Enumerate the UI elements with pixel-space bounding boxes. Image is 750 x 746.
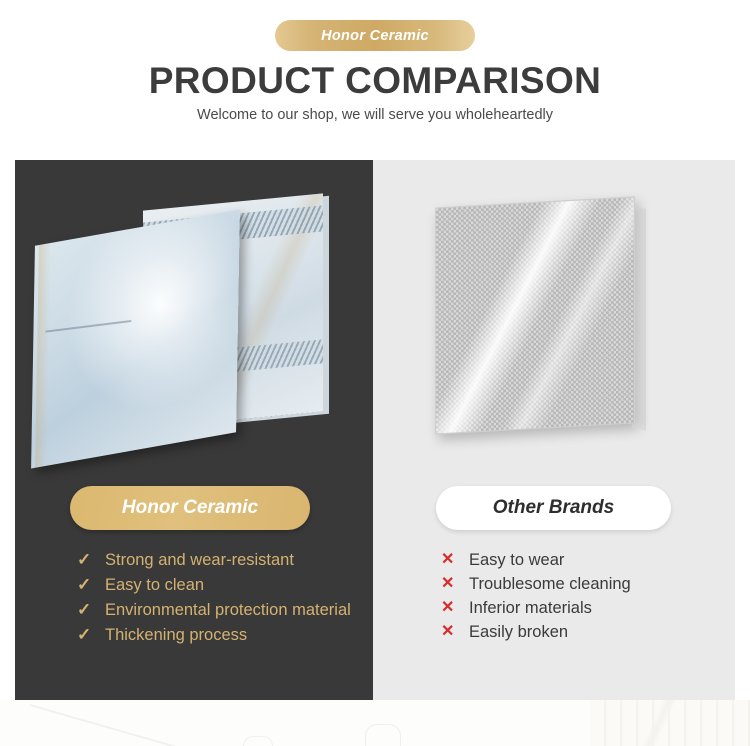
- list-item-label: Easily broken: [469, 620, 568, 644]
- check-icon: ✓: [77, 573, 105, 597]
- list-item: ✓ Easy to clean: [77, 573, 362, 597]
- list-item-label: Thickening process: [105, 623, 247, 647]
- tile-front-slab: [31, 210, 240, 469]
- watermark-texture-block: [590, 700, 750, 746]
- page-header: Honor Ceramic PRODUCT COMPARISON Welcome…: [0, 0, 750, 160]
- list-item-label: Troublesome cleaning: [469, 572, 631, 596]
- other-brands-badge-label: Other Brands: [493, 497, 614, 519]
- list-item-label: Easy to wear: [469, 548, 564, 572]
- cross-icon: ✕: [441, 596, 469, 620]
- check-icon: ✓: [77, 598, 105, 622]
- other-brands-badge: Other Brands: [436, 486, 671, 530]
- cross-icon: ✕: [441, 548, 469, 572]
- list-item: ✕ Troublesome cleaning: [441, 572, 731, 596]
- list-item: ✓ Thickening process: [77, 623, 362, 647]
- page-title: PRODUCT COMPARISON: [0, 60, 750, 102]
- page-subtitle: Welcome to our shop, we will serve you w…: [0, 107, 750, 123]
- honor-ceramic-product-image: [15, 184, 373, 464]
- list-item: ✕ Easy to wear: [441, 548, 731, 572]
- other-brands-product-image: [373, 184, 735, 464]
- honor-ceramic-feature-list: ✓ Strong and wear-resistant ✓ Easy to cl…: [77, 548, 362, 648]
- watermark-ring-icon: [365, 724, 401, 746]
- honor-ceramic-badge-label: Honor Ceramic: [122, 497, 258, 519]
- brand-badge: Honor Ceramic: [275, 20, 475, 51]
- list-item-label: Strong and wear-resistant: [105, 548, 294, 572]
- comparison-container: Honor Ceramic ✓ Strong and wear-resistan…: [15, 160, 735, 700]
- list-item: ✓ Environmental protection material: [77, 598, 362, 622]
- list-item: ✕ Easily broken: [441, 620, 731, 644]
- check-icon: ✓: [77, 623, 105, 647]
- list-item-label: Inferior materials: [469, 596, 592, 620]
- granite-tile-face: [435, 196, 635, 434]
- honor-ceramic-badge: Honor Ceramic: [70, 486, 310, 530]
- panel-honor-ceramic: Honor Ceramic ✓ Strong and wear-resistan…: [15, 160, 373, 700]
- list-item-label: Environmental protection material: [105, 598, 351, 622]
- cross-icon: ✕: [441, 572, 469, 596]
- brand-badge-label: Honor Ceramic: [321, 28, 429, 44]
- other-brands-feature-list: ✕ Easy to wear ✕ Troublesome cleaning ✕ …: [441, 548, 731, 644]
- bottom-watermark: [0, 700, 750, 746]
- watermark-ring-secondary-icon: [243, 736, 273, 746]
- list-item-label: Easy to clean: [105, 573, 204, 597]
- list-item: ✕ Inferior materials: [441, 596, 731, 620]
- check-icon: ✓: [77, 548, 105, 572]
- list-item: ✓ Strong and wear-resistant: [77, 548, 362, 572]
- cross-icon: ✕: [441, 620, 469, 644]
- watermark-diagonal-line: [30, 704, 319, 746]
- panel-other-brands: Other Brands ✕ Easy to wear ✕ Troublesom…: [373, 160, 735, 700]
